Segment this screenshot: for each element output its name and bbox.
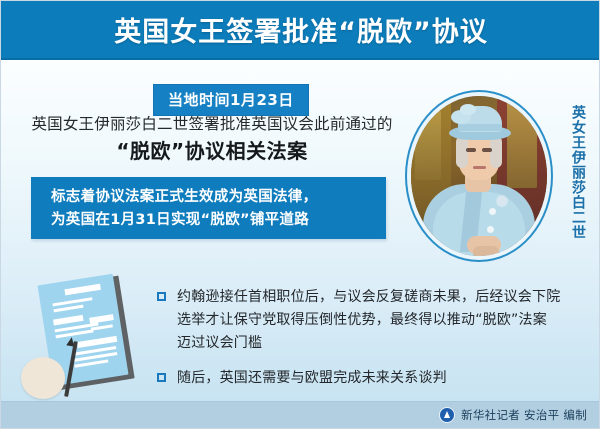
- bullet-list: 约翰逊接任首相职位后，与议会反复磋商未果，后经议会下院 选举才让保守党取得压倒性…: [157, 286, 577, 402]
- date-badge: 当地时间1月23日: [153, 84, 309, 116]
- footer-bar: 新华社记者 安治平 编制: [1, 401, 600, 428]
- portrait-caption-vertical: 英女王伊丽莎白二世: [563, 105, 585, 255]
- lede-line-1: 英国女王伊丽莎白二世签署批准英国议会此前通过的: [27, 113, 397, 135]
- hollow-square-bullet-icon: [157, 292, 166, 301]
- hollow-square-bullet-icon: [157, 373, 166, 382]
- list-item: 随后，英国还需要与欧盟完成未来关系谈判: [157, 367, 577, 390]
- queen-portrait-photo: [411, 96, 547, 256]
- page-title: 英国女王签署批准“脱欧”协议: [1, 1, 600, 58]
- lede-line-2: “脱欧”协议相关法案: [27, 137, 397, 165]
- footer-credit-text: 新华社记者 安治平 编制: [461, 407, 587, 423]
- portrait-figure: [405, 90, 553, 262]
- coffee-cup-icon: [21, 357, 65, 399]
- emphasis-line-1: 标志着协议法案正式生效成为英国法律，: [51, 186, 376, 209]
- header-bar: 英国女王签署批准“脱欧”协议: [1, 1, 600, 60]
- emphasis-line-2: 为英国在1月31日实现“脱欧”铺平道路: [51, 209, 376, 232]
- portrait-ring: [405, 90, 553, 262]
- document-pen-coffee-illustration: [15, 273, 155, 401]
- lede-paragraph: 英国女王伊丽莎白二世签署批准英国议会此前通过的 “脱欧”协议相关法案: [27, 113, 397, 165]
- infographic-poster: 英国女王签署批准“脱欧”协议 当地时间1月23日 英国女王伊丽莎白二世签署批准英…: [0, 0, 600, 429]
- bullet-text: 随后，英国还需要与欧盟完成未来关系谈判: [177, 367, 447, 390]
- xinhua-logo-icon: [439, 407, 455, 423]
- bullet-text: 约翰逊接任首相职位后，与议会反复磋商未果，后经议会下院 选举才让保守党取得压倒性…: [177, 286, 560, 355]
- footer-credit: 新华社记者 安治平 编制: [439, 402, 587, 428]
- list-item: 约翰逊接任首相职位后，与议会反复磋商未果，后经议会下院 选举才让保守党取得压倒性…: [157, 286, 577, 355]
- emphasis-callout-box: 标志着协议法案正式生效成为英国法律， 为英国在1月31日实现“脱欧”铺平道路: [31, 177, 386, 239]
